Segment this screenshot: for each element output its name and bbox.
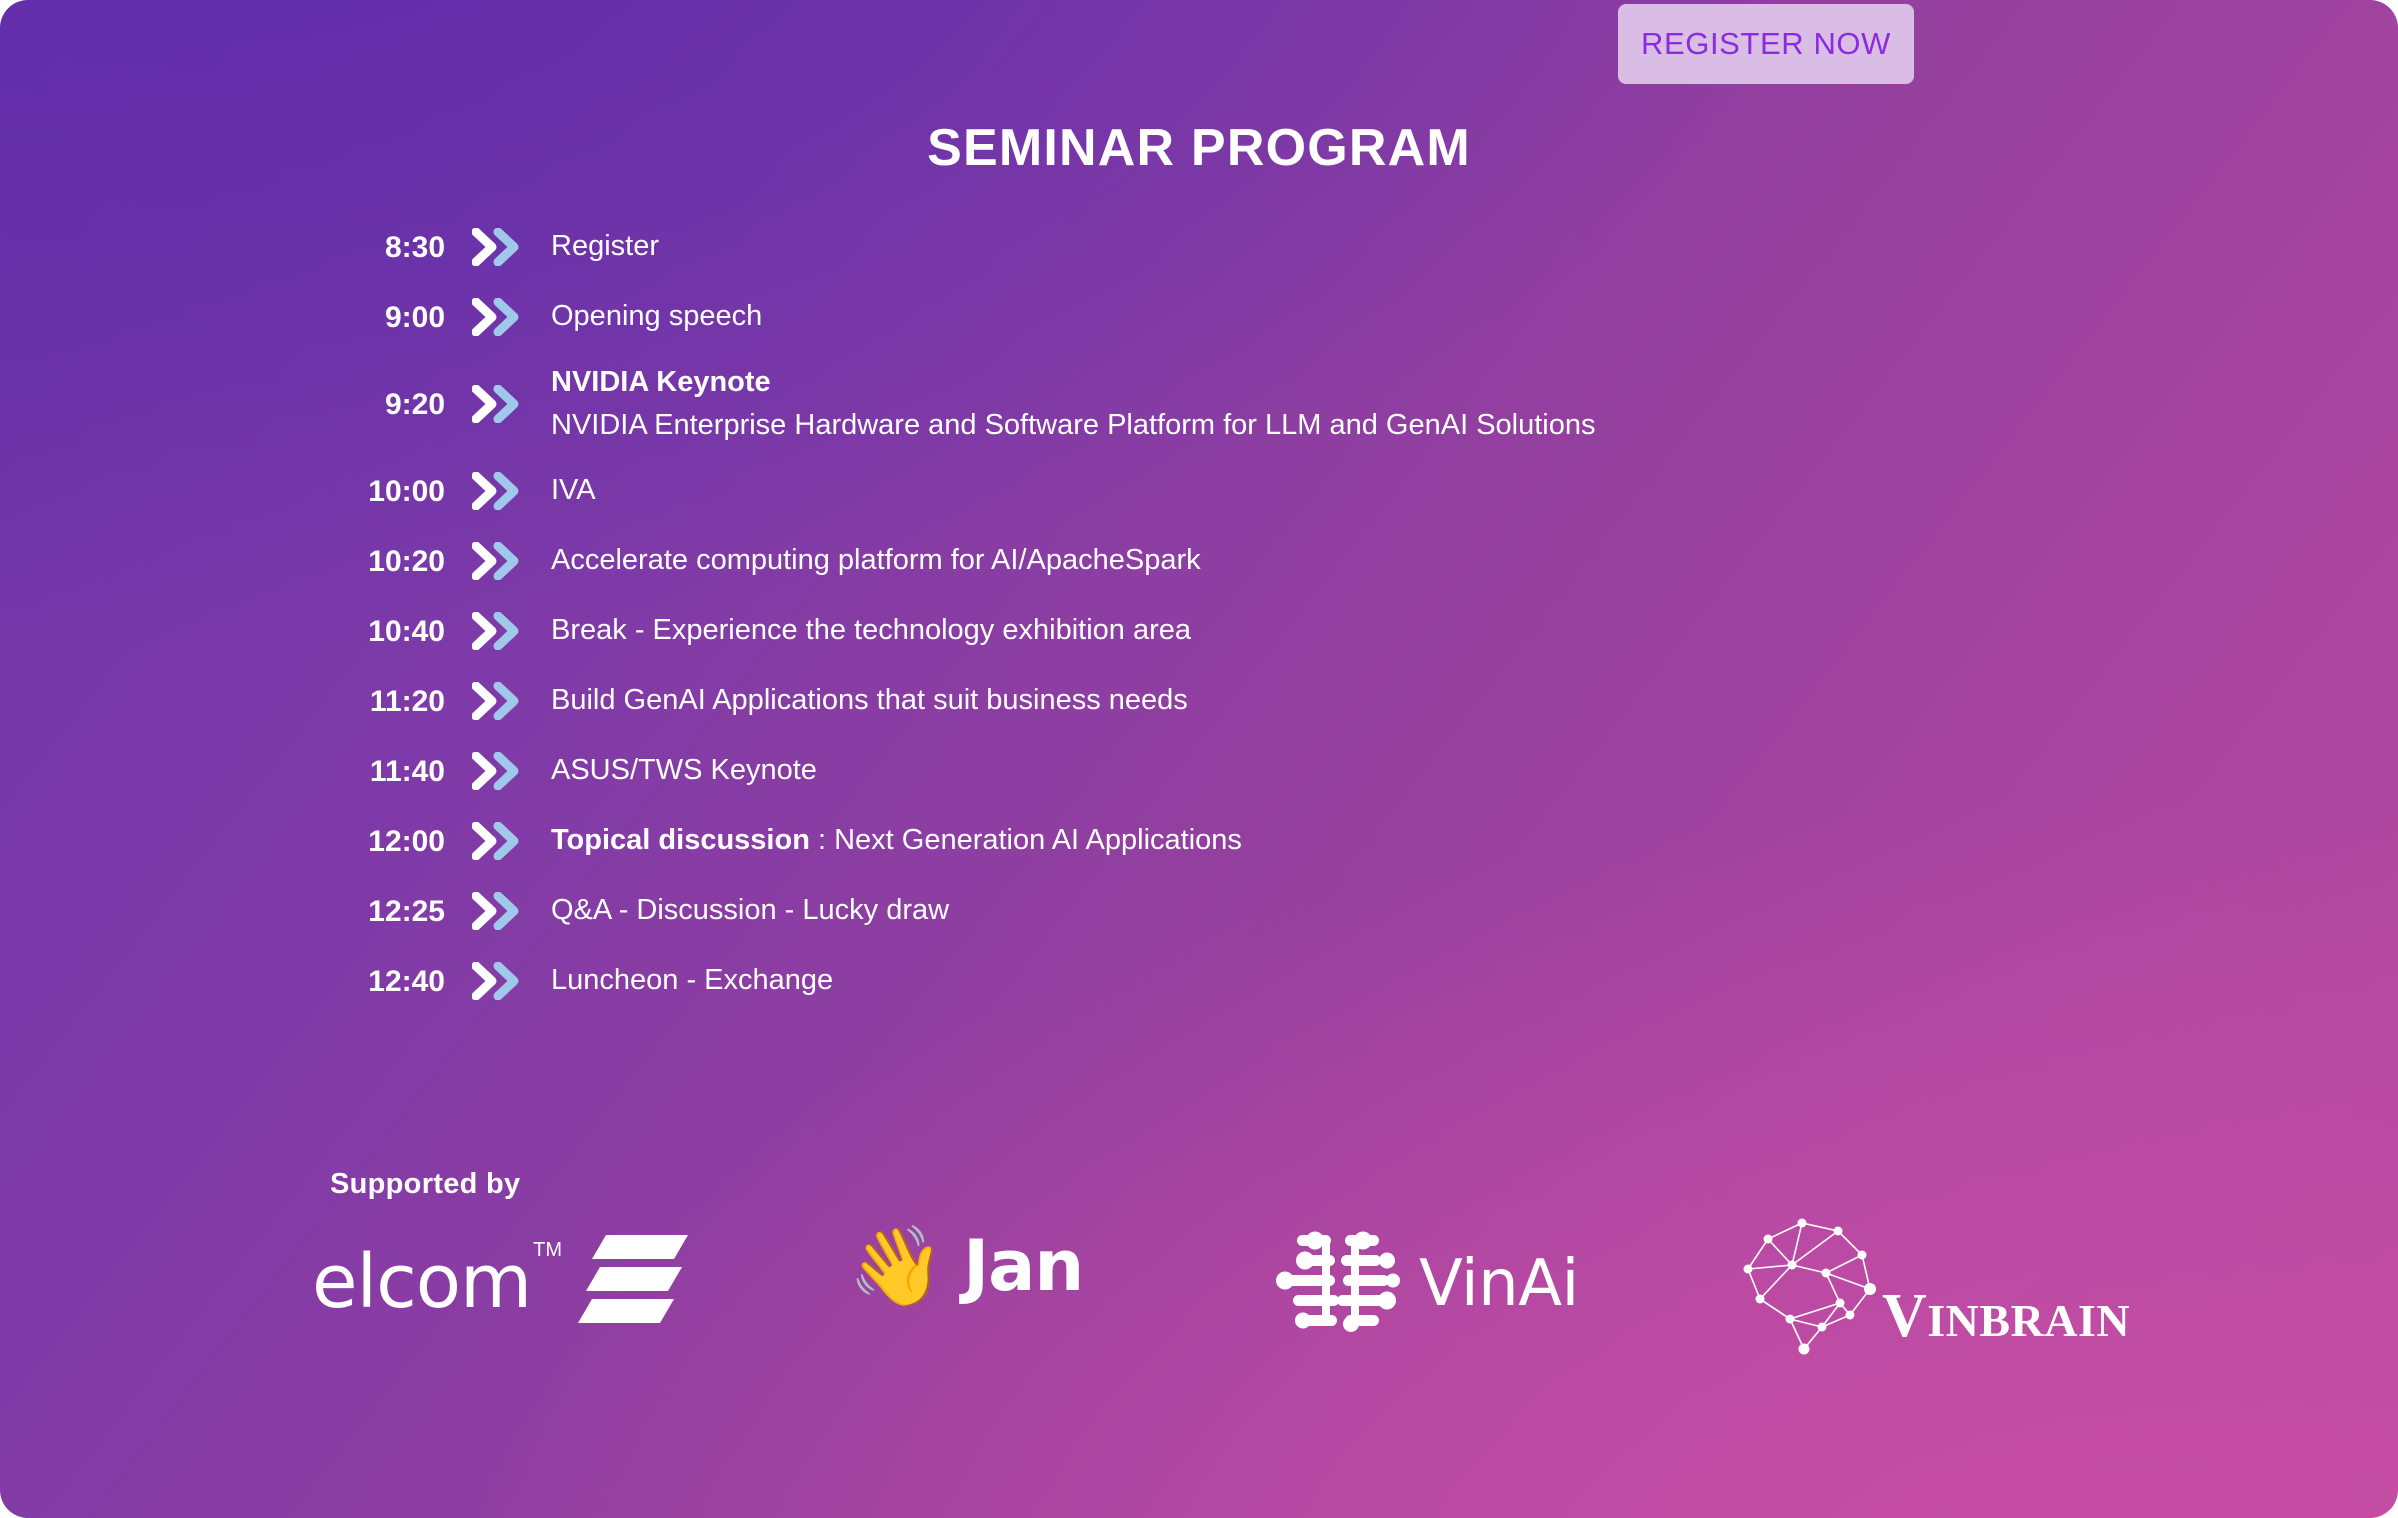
schedule-entry-text: Luncheon - Exchange: [551, 961, 833, 1000]
schedule-time: 12:00: [330, 825, 445, 858]
schedule-time: 12:40: [330, 965, 445, 998]
jan-wordmark: Jan: [963, 1225, 1083, 1307]
seminar-program-slide: REGISTER NOW SEMINAR PROGRAM 8:30Registe…: [0, 0, 2398, 1518]
waving-hand-icon: 👋: [848, 1227, 945, 1305]
schedule-entry-text: Q&A - Discussion - Lucky draw: [551, 891, 949, 930]
schedule-row: 12:25Q&A - Discussion - Lucky draw: [330, 876, 2230, 946]
schedule-entry-text: Opening speech: [551, 297, 762, 336]
vinbrain-wordmark: VINBRAIN: [1882, 1281, 2130, 1352]
schedule-entry-bold-prefix: Topical discussion: [551, 824, 810, 856]
schedule-entry-title: NVIDIA Keynote: [551, 363, 1596, 402]
sponsor-logo-vinbrain[interactable]: VINBRAIN: [1730, 1207, 2130, 1362]
double-chevron-right-icon: [467, 962, 529, 1000]
schedule-entry-subtitle: NVIDIA Enterprise Hardware and Software …: [551, 406, 1596, 445]
sponsor-logo-vinai[interactable]: VinAi: [1275, 1229, 1579, 1338]
double-chevron-right-icon: [467, 612, 529, 650]
schedule-entry-rest: : Next Generation AI Applications: [810, 824, 1242, 856]
schedule-entry-text: Build GenAI Applications that suit busin…: [551, 681, 1188, 720]
double-chevron-right-icon: [467, 228, 529, 266]
schedule-row: 11:40ASUS/TWS Keynote: [330, 736, 2230, 806]
sponsor-logo-jan[interactable]: 👋 Jan: [848, 1225, 1083, 1307]
vinbrain-initial: V: [1882, 1282, 1927, 1350]
schedule-time: 10:40: [330, 615, 445, 648]
schedule-row: 11:20Build GenAI Applications that suit …: [330, 666, 2230, 736]
sponsor-logo-elcom[interactable]: elcom TM: [312, 1233, 690, 1330]
schedule-time: 12:25: [330, 895, 445, 928]
double-chevron-right-icon: [467, 682, 529, 720]
schedule-time: 11:40: [330, 755, 445, 788]
schedule-time: 9:00: [330, 301, 445, 334]
supported-by-label: Supported by: [330, 1168, 521, 1201]
schedule-time: 8:30: [330, 231, 445, 264]
double-chevron-right-icon: [467, 385, 529, 423]
schedule-entry-text: NVIDIA KeynoteNVIDIA Enterprise Hardware…: [551, 363, 1596, 445]
schedule-row: 9:00Opening speech: [330, 282, 2230, 352]
schedule-time: 9:20: [330, 388, 445, 421]
schedule-time: 10:00: [330, 475, 445, 508]
vinai-wordmark: VinAi: [1419, 1247, 1579, 1321]
schedule-row: 10:00IVA: [330, 456, 2230, 526]
double-chevron-right-icon: [467, 892, 529, 930]
register-now-button[interactable]: REGISTER NOW: [1618, 4, 1914, 84]
double-chevron-right-icon: [467, 822, 529, 860]
schedule-entry-text: ASUS/TWS Keynote: [551, 751, 817, 790]
trademark-symbol: TM: [533, 1239, 562, 1262]
schedule-entry-text: Topical discussion : Next Generation AI …: [551, 821, 1242, 860]
sponsor-logos: elcom TM 👋 Jan: [300, 1215, 2100, 1375]
schedule-row: 10:20Accelerate computing platform for A…: [330, 526, 2230, 596]
schedule-list: 8:30Register9:00Opening speech9:20NVIDIA…: [330, 212, 2230, 1016]
double-chevron-right-icon: [467, 298, 529, 336]
schedule-entry-text: Break - Experience the technology exhibi…: [551, 611, 1191, 650]
schedule-time: 10:20: [330, 545, 445, 578]
vinbrain-rest: INBRAIN: [1927, 1295, 2130, 1346]
schedule-entry-text: Register: [551, 227, 659, 266]
schedule-entry-text: IVA: [551, 471, 596, 510]
schedule-row: 9:20NVIDIA KeynoteNVIDIA Enterprise Hard…: [330, 352, 2230, 456]
schedule-time: 11:20: [330, 685, 445, 718]
elcom-wordmark: elcom: [312, 1245, 531, 1319]
schedule-row: 12:40Luncheon - Exchange: [330, 946, 2230, 1016]
page-title: SEMINAR PROGRAM: [0, 118, 2398, 178]
schedule-row: 8:30Register: [330, 212, 2230, 282]
schedule-entry-text: Accelerate computing platform for AI/Apa…: [551, 541, 1201, 580]
schedule-row: 10:40Break - Experience the technology e…: [330, 596, 2230, 666]
schedule-row: 12:00Topical discussion : Next Generatio…: [330, 806, 2230, 876]
vinai-circuit-mark-icon: [1275, 1229, 1403, 1338]
elcom-e-mark-icon: [578, 1233, 690, 1330]
double-chevron-right-icon: [467, 752, 529, 790]
double-chevron-right-icon: [467, 472, 529, 510]
double-chevron-right-icon: [467, 542, 529, 580]
